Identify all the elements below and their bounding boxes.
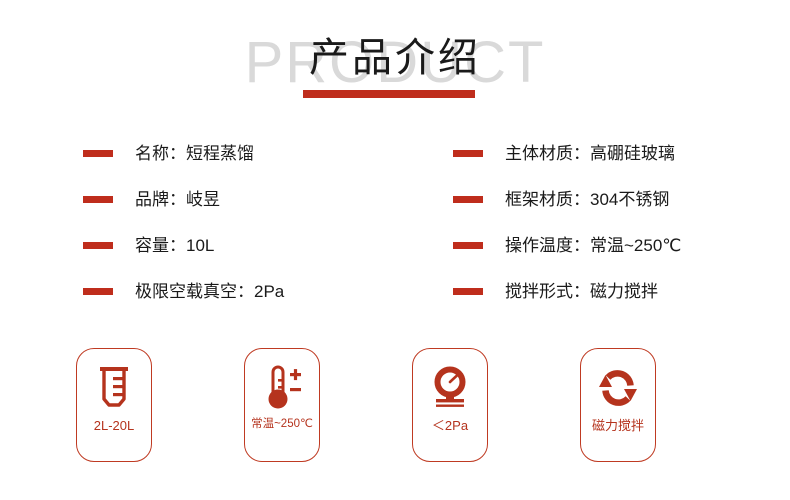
feature-card-label: 磁力搅拌 (592, 419, 644, 432)
feature-card-capacity: 2L-20L (76, 348, 152, 462)
spec-row: 容量：10L (83, 222, 443, 268)
spec-text: 搅拌形式：磁力搅拌 (505, 283, 658, 300)
dash-marker-icon (83, 150, 113, 157)
spec-row: 品牌：岐昱 (83, 176, 443, 222)
feature-card-stirring: 磁力搅拌 (580, 348, 656, 462)
spec-row: 框架材质：304不锈钢 (453, 176, 783, 222)
spec-row: 名称：短程蒸馏 (83, 130, 443, 176)
feature-card-temperature: 常温~250℃ (244, 348, 320, 462)
dash-marker-icon (83, 288, 113, 295)
page-header: PRODUCT 产品介绍 (0, 0, 790, 120)
dash-marker-icon (453, 196, 483, 203)
spec-row: 搅拌形式：磁力搅拌 (453, 268, 783, 314)
feature-card-row: 2L-20L 常温~250℃ ＜ (76, 348, 716, 464)
spec-text: 框架材质：304不锈钢 (505, 191, 669, 208)
feature-card-label: ＜2Pa (432, 419, 468, 432)
spec-row: 极限空载真空：2Pa (83, 268, 443, 314)
spec-text: 品牌：岐昱 (135, 191, 220, 208)
dash-marker-icon (453, 150, 483, 157)
thermometer-icon (258, 363, 306, 413)
spec-text: 容量：10L (135, 237, 214, 254)
spec-row: 主体材质：高硼硅玻璃 (453, 130, 783, 176)
spec-column-right: 主体材质：高硼硅玻璃 框架材质：304不锈钢 操作温度：常温~250℃ 搅拌形式… (453, 130, 783, 314)
feature-card-label: 常温~250℃ (251, 419, 313, 431)
spec-column-left: 名称：短程蒸馏 品牌：岐昱 容量：10L 极限空载真空：2Pa (83, 130, 443, 314)
dash-marker-icon (453, 242, 483, 249)
title-underline-rule (303, 90, 475, 98)
feature-card-vacuum: ＜2Pa (412, 348, 488, 462)
spec-text: 操作温度：常温~250℃ (505, 237, 681, 254)
spec-row: 操作温度：常温~250℃ (453, 222, 783, 268)
page-title: 产品介绍 (0, 38, 790, 78)
beaker-icon (90, 363, 138, 413)
spec-text: 名称：短程蒸馏 (135, 145, 254, 162)
specification-list: 名称：短程蒸馏 品牌：岐昱 容量：10L 极限空载真空：2Pa 主体材质：高硼硅… (0, 130, 790, 320)
spec-text: 极限空载真空：2Pa (135, 283, 284, 300)
dash-marker-icon (83, 242, 113, 249)
dash-marker-icon (453, 288, 483, 295)
feature-card-label: 2L-20L (94, 419, 134, 432)
dash-marker-icon (83, 196, 113, 203)
spec-text: 主体材质：高硼硅玻璃 (505, 145, 675, 162)
magnetic-stir-icon (594, 363, 642, 413)
pressure-gauge-icon (426, 363, 474, 413)
